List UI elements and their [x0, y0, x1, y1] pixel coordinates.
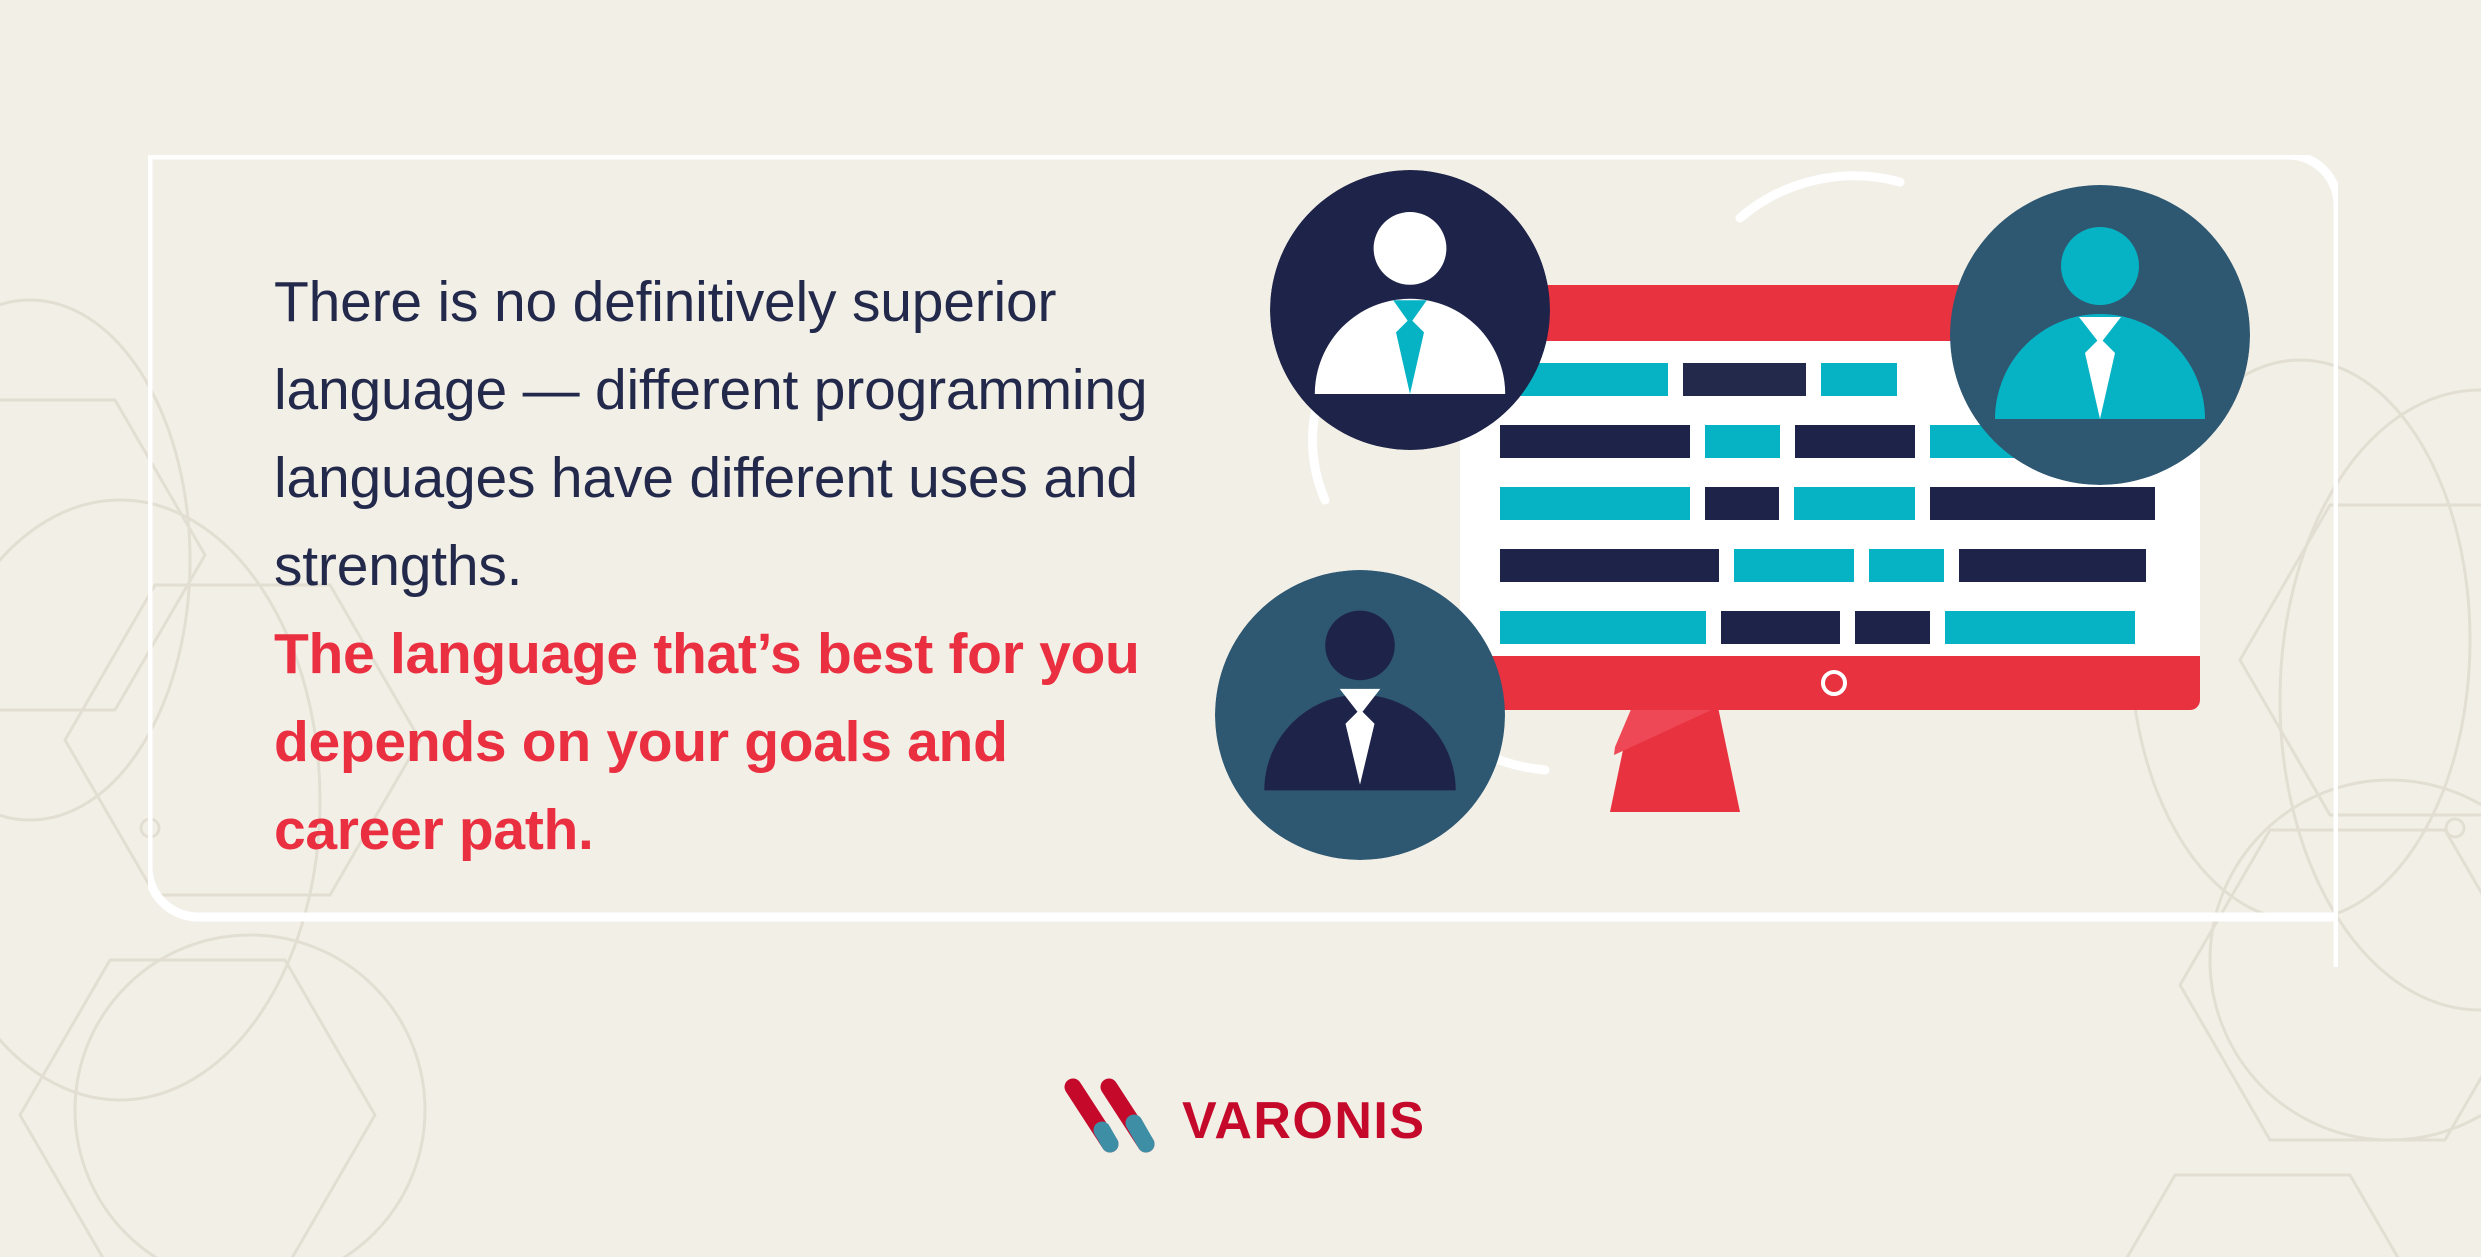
monitor-bottom-bezel: [1460, 656, 2200, 710]
avatar-bottom-left: [1215, 570, 1505, 860]
quote-text-block: There is no definitively superior langua…: [274, 258, 1174, 874]
screen-bar: [1945, 611, 2135, 644]
screen-bar: [1821, 363, 1897, 396]
screen-row: [1500, 611, 2160, 644]
power-dot-icon: [1821, 670, 1847, 696]
screen-bar: [1721, 611, 1840, 644]
screen-bar: [1855, 611, 1930, 644]
avatar-top-right: [1950, 185, 2250, 485]
screen-bar: [1930, 487, 2155, 520]
screen-bar: [1869, 549, 1944, 582]
monitor-stand: [1600, 707, 1770, 812]
screen-row: [1500, 549, 2160, 582]
illustration-monitor-users: [1270, 170, 2230, 890]
screen-bar: [1795, 425, 1915, 458]
logo-mark-icon: [1073, 1087, 1146, 1144]
poster-canvas: There is no definitively superior langua…: [0, 0, 2481, 1257]
screen-bar: [1500, 611, 1706, 644]
varonis-logo[interactable]: VARONIS: [1062, 1078, 1422, 1154]
quote-plain-text: There is no definitively superior langua…: [274, 270, 1147, 598]
screen-row: [1500, 487, 2160, 520]
screen-bar: [1500, 487, 1690, 520]
screen-bar: [1705, 425, 1780, 458]
avatar-top-left: [1270, 170, 1550, 450]
quote-paragraph: There is no definitively superior langua…: [274, 258, 1174, 874]
screen-bar: [1500, 425, 1690, 458]
screen-bar: [1683, 363, 1806, 396]
screen-bar: [1500, 549, 1719, 582]
screen-bar: [1959, 549, 2146, 582]
quote-emphasis-text: The language that’s best for you depends…: [274, 610, 1174, 874]
screen-bar: [1794, 487, 1915, 520]
logo-wordmark: VARONIS: [1182, 1092, 1422, 1150]
screen-bar: [1705, 487, 1779, 520]
screen-bar: [1734, 549, 1854, 582]
